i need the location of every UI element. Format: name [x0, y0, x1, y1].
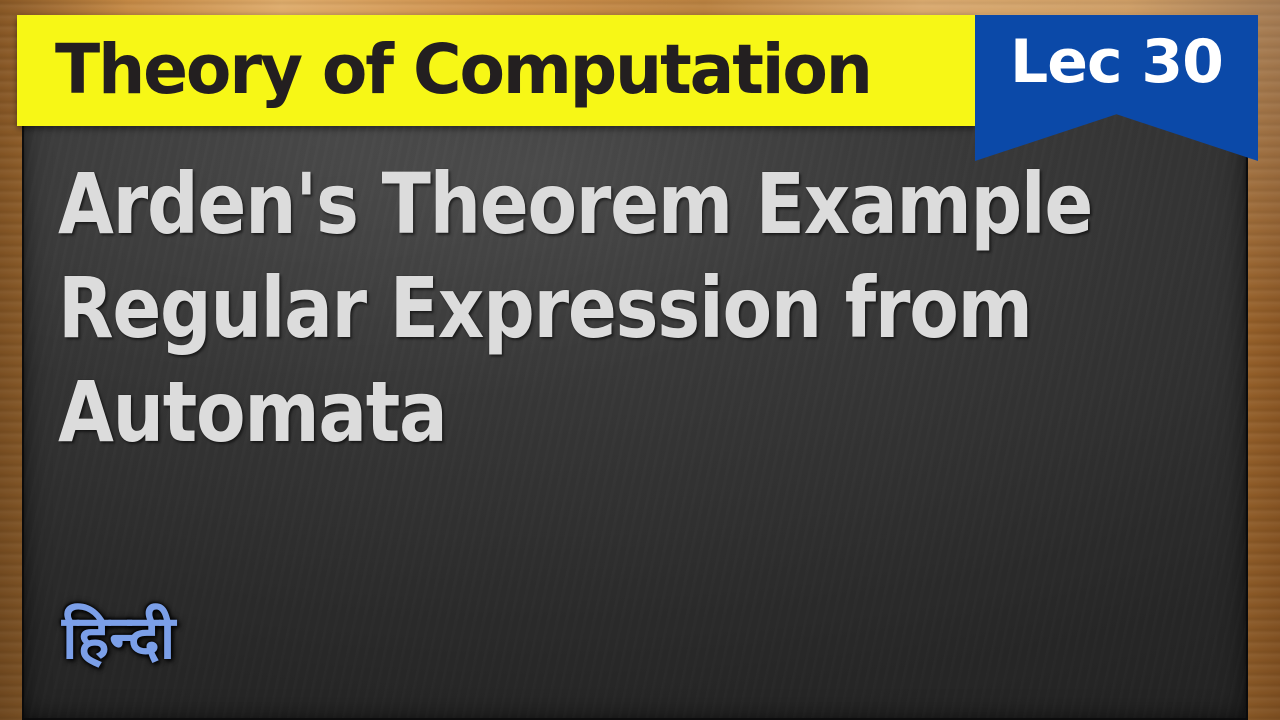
- language-tag: हिन्दी: [62, 608, 175, 668]
- course-title-text: Theory of Computation: [55, 36, 871, 105]
- headline-block: Arden's Theorem Example Regular Expressi…: [58, 152, 1178, 464]
- headline-line-1: Arden's Theorem Example: [58, 152, 1021, 256]
- course-title-banner: Theory of Computation: [17, 15, 975, 126]
- headline-line-3: Automata: [58, 360, 1021, 464]
- headline-line-2: Regular Expression from: [58, 256, 1021, 360]
- video-thumbnail: Theory of Computation Lec 30 Arden's The…: [0, 0, 1280, 720]
